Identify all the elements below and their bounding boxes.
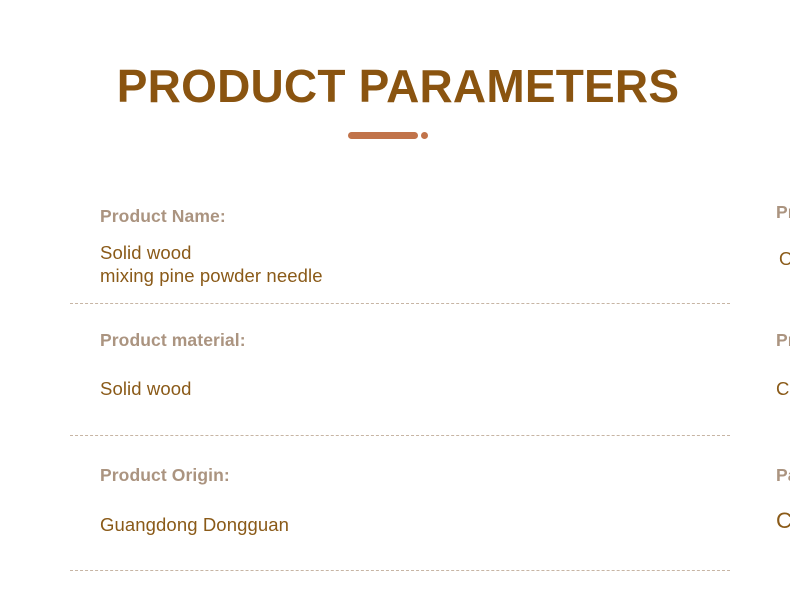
spec-cell-product-origin: Product Origin: Guangdong Dongguan: [0, 435, 338, 536]
spec-label: Product Origin:: [100, 465, 338, 486]
spec-value: Guangdong Dongguan: [100, 513, 338, 536]
spec-value-line: Solid wood: [100, 241, 338, 264]
spec-value: Carton packaging: [776, 507, 790, 535]
product-parameters-page: PRODUCT PARAMETERS Product Name: Solid w…: [0, 0, 790, 597]
row-divider: [70, 303, 730, 304]
spec-label: Product Brand:: [776, 330, 790, 351]
spec-value-line: On-demand customization: [779, 247, 790, 270]
spec-value: Solid wood mixing pine powder needle: [100, 241, 338, 287]
spec-label: Packaging and Transportation:: [776, 465, 790, 486]
spec-cell-product-name: Product Name: Solid wood mixing pine pow…: [0, 196, 338, 287]
spec-cell-packaging-transportation: Packaging and Transportation: Carton pac…: [338, 435, 790, 535]
spec-cell-product-brand: Product Brand: Craftsman's Home: [338, 303, 790, 400]
row-divider: [70, 570, 730, 571]
spec-label: Product size:: [776, 202, 790, 223]
spec-cell-product-material: Product material: Solid wood: [0, 303, 338, 400]
spec-label: Product Name:: [100, 206, 338, 227]
spec-value: Craftsman's Home: [776, 377, 790, 400]
spec-value-line: Guangdong Dongguan: [100, 513, 338, 536]
spec-value-line: mixing pine powder needle: [100, 264, 338, 287]
spec-value-line: Carton packaging: [776, 507, 790, 535]
spec-row: Product material: Solid wood Product Bra…: [0, 303, 790, 435]
ornament-bar-icon: [348, 132, 418, 139]
spec-table: Product Name: Solid wood mixing pine pow…: [0, 196, 790, 570]
spec-row: Product Origin: Guangdong Dongguan Packa…: [0, 435, 790, 570]
row-divider: [70, 435, 730, 436]
spec-value: Solid wood: [100, 377, 338, 400]
spec-value-line: Craftsman's Home: [776, 377, 790, 400]
page-header: PRODUCT PARAMETERS: [0, 62, 790, 110]
spec-label: Product material:: [100, 330, 338, 351]
spec-cell-product-size: Product size: On-demand customization: [338, 196, 790, 270]
spec-value-line: Solid wood: [100, 377, 338, 400]
spec-value: On-demand customization: [776, 247, 790, 270]
ornament-dot-icon: [421, 132, 428, 139]
spec-row: Product Name: Solid wood mixing pine pow…: [0, 196, 790, 303]
page-title: PRODUCT PARAMETERS: [0, 62, 790, 110]
title-ornament: [0, 130, 790, 142]
